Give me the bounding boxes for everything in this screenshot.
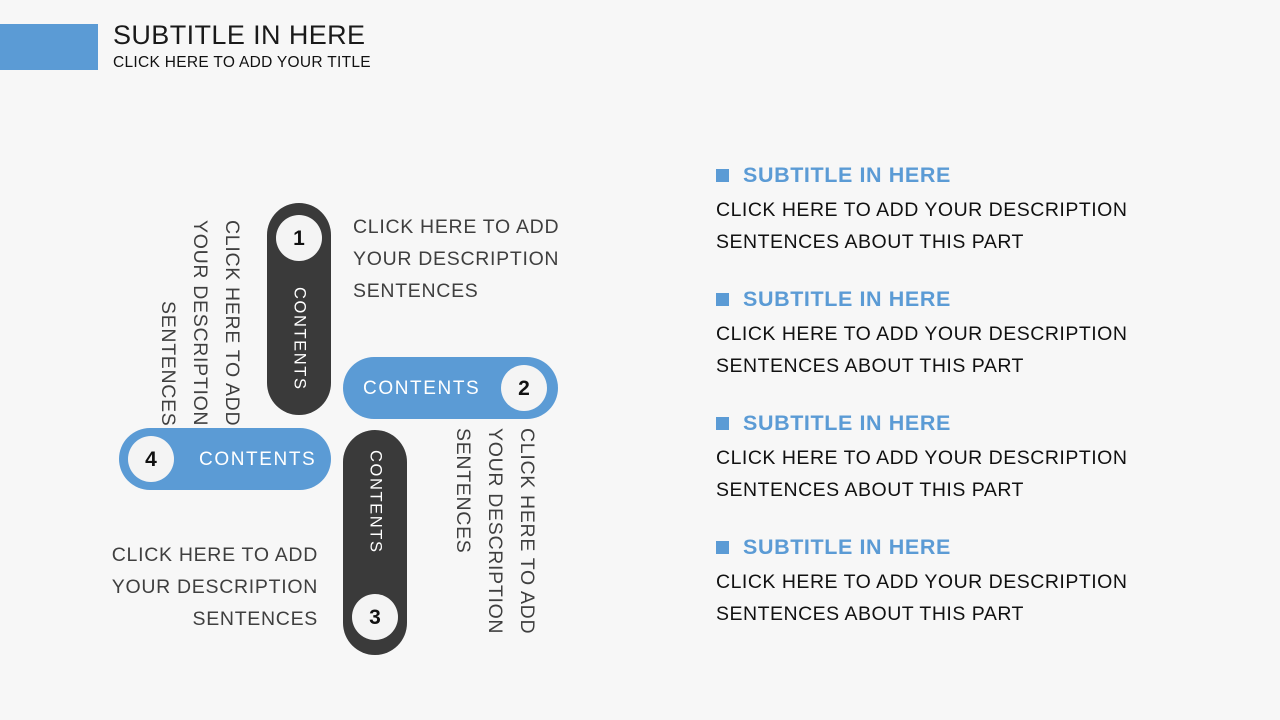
description-block: SUBTITLE IN HERE CLICK HERE TO ADD YOUR … [716,535,1186,630]
square-bullet-icon [716,293,729,306]
diagram-pill-3-number: 3 [352,594,398,640]
description-block-header: SUBTITLE IN HERE [716,535,1186,559]
description-block-title[interactable]: SUBTITLE IN HERE [743,535,951,559]
square-bullet-icon [716,169,729,182]
description-block-body[interactable]: CLICK HERE TO ADD YOUR DESCRIPTION SENTE… [716,194,1156,258]
pinwheel-diagram: 1 CONTENTS 2 CONTENTS 3 CONTENTS 4 CONTE… [0,0,640,720]
diagram-pill-2-number: 2 [501,365,547,411]
diagram-pill-1-number: 1 [276,215,322,261]
description-block: SUBTITLE IN HERE CLICK HERE TO ADD YOUR … [716,287,1186,382]
diagram-pill-2-label: CONTENTS [363,379,480,398]
square-bullet-icon [716,417,729,430]
description-block-body[interactable]: CLICK HERE TO ADD YOUR DESCRIPTION SENTE… [716,318,1156,382]
description-block-header: SUBTITLE IN HERE [716,287,1186,311]
diagram-description-4[interactable]: CLICK HERE TO ADD YOUR DESCRIPTION SENTE… [152,204,248,426]
diagram-description-3[interactable]: CLICK HERE TO ADD YOUR DESCRIPTION SENTE… [100,539,318,635]
description-block-title[interactable]: SUBTITLE IN HERE [743,287,951,311]
description-block-header: SUBTITLE IN HERE [716,411,1186,435]
diagram-pill-4-number: 4 [128,436,174,482]
description-block-title[interactable]: SUBTITLE IN HERE [743,163,951,187]
description-block-body[interactable]: CLICK HERE TO ADD YOUR DESCRIPTION SENTE… [716,566,1156,630]
diagram-pill-3-label: CONTENTS [367,450,384,554]
diagram-description-2[interactable]: CLICK HERE TO ADD YOUR DESCRIPTION SENTE… [447,428,543,650]
diagram-pill-4-label: CONTENTS [199,450,316,469]
description-block-body[interactable]: CLICK HERE TO ADD YOUR DESCRIPTION SENTE… [716,442,1156,506]
description-block-title[interactable]: SUBTITLE IN HERE [743,411,951,435]
description-list: SUBTITLE IN HERE CLICK HERE TO ADD YOUR … [716,163,1186,630]
description-block: SUBTITLE IN HERE CLICK HERE TO ADD YOUR … [716,411,1186,506]
square-bullet-icon [716,541,729,554]
description-block: SUBTITLE IN HERE CLICK HERE TO ADD YOUR … [716,163,1186,258]
diagram-description-1[interactable]: CLICK HERE TO ADD YOUR DESCRIPTION SENTE… [353,211,578,307]
diagram-pill-1-label: CONTENTS [291,287,308,391]
description-block-header: SUBTITLE IN HERE [716,163,1186,187]
